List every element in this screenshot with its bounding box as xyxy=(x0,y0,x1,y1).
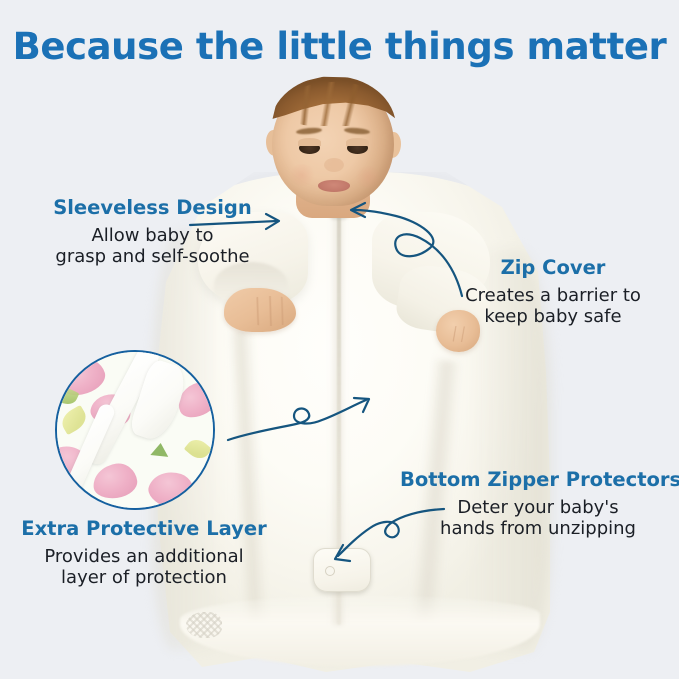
fabric-leaf xyxy=(184,435,212,463)
baby-hair-strands xyxy=(286,82,382,126)
callout-desc-line-1: Deter your baby's xyxy=(400,497,676,519)
baby-eyelid-left xyxy=(298,138,321,146)
sack-lace-detail xyxy=(186,612,222,638)
baby-mouth xyxy=(318,180,350,192)
fabric-leaf xyxy=(58,405,91,435)
callout-description: Allow baby to grasp and self-soothe xyxy=(30,225,275,268)
callout-label: Extra Protective Layer xyxy=(8,517,280,541)
baby-fingers-left xyxy=(246,296,294,326)
callout-desc-line-2: hands from unzipping xyxy=(400,518,676,540)
baby-nose xyxy=(324,158,344,172)
callout-desc-line-2: keep baby safe xyxy=(430,306,676,328)
bottom-zipper-protector xyxy=(313,548,371,592)
callout-desc-line-2: grasp and self-soothe xyxy=(30,246,275,268)
callout-sleeveless-design: Sleeveless Design Allow baby to grasp an… xyxy=(30,196,275,268)
callout-desc-line-1: Creates a barrier to xyxy=(430,285,676,307)
infographic-canvas: Because the little things matter xyxy=(0,0,679,679)
callout-description: Deter your baby's hands from unzipping xyxy=(400,497,676,540)
inset-zip-pull-triangle xyxy=(150,442,169,457)
callout-label: Zip Cover xyxy=(430,256,676,280)
fabric-petal xyxy=(145,466,200,510)
callout-desc-line-1: Allow baby to xyxy=(30,225,275,247)
callout-label: Sleeveless Design xyxy=(30,196,275,220)
baby-cheek-right xyxy=(354,166,382,188)
inset-fabric-background xyxy=(55,350,215,510)
fabric-detail-inset xyxy=(55,350,215,510)
callout-zip-cover: Zip Cover Creates a barrier to keep baby… xyxy=(430,256,676,328)
callout-label: Bottom Zipper Protectors xyxy=(400,468,676,492)
fabric-petal xyxy=(91,461,139,501)
zipper-protector-snap xyxy=(325,566,335,576)
baby-fingers-right xyxy=(448,326,470,342)
callout-extra-protective-layer: Extra Protective Layer Provides an addit… xyxy=(8,517,280,589)
baby-eyelid-right xyxy=(346,138,369,146)
callout-description: Creates a barrier to keep baby safe xyxy=(430,285,676,328)
callout-description: Provides an additional layer of protecti… xyxy=(8,546,280,589)
callout-bottom-zipper-protectors: Bottom Zipper Protectors Deter your baby… xyxy=(400,468,676,540)
callout-desc-line-2: layer of protection xyxy=(8,567,280,589)
baby-cheek-left xyxy=(288,164,316,186)
callout-desc-line-1: Provides an additional xyxy=(8,546,280,568)
